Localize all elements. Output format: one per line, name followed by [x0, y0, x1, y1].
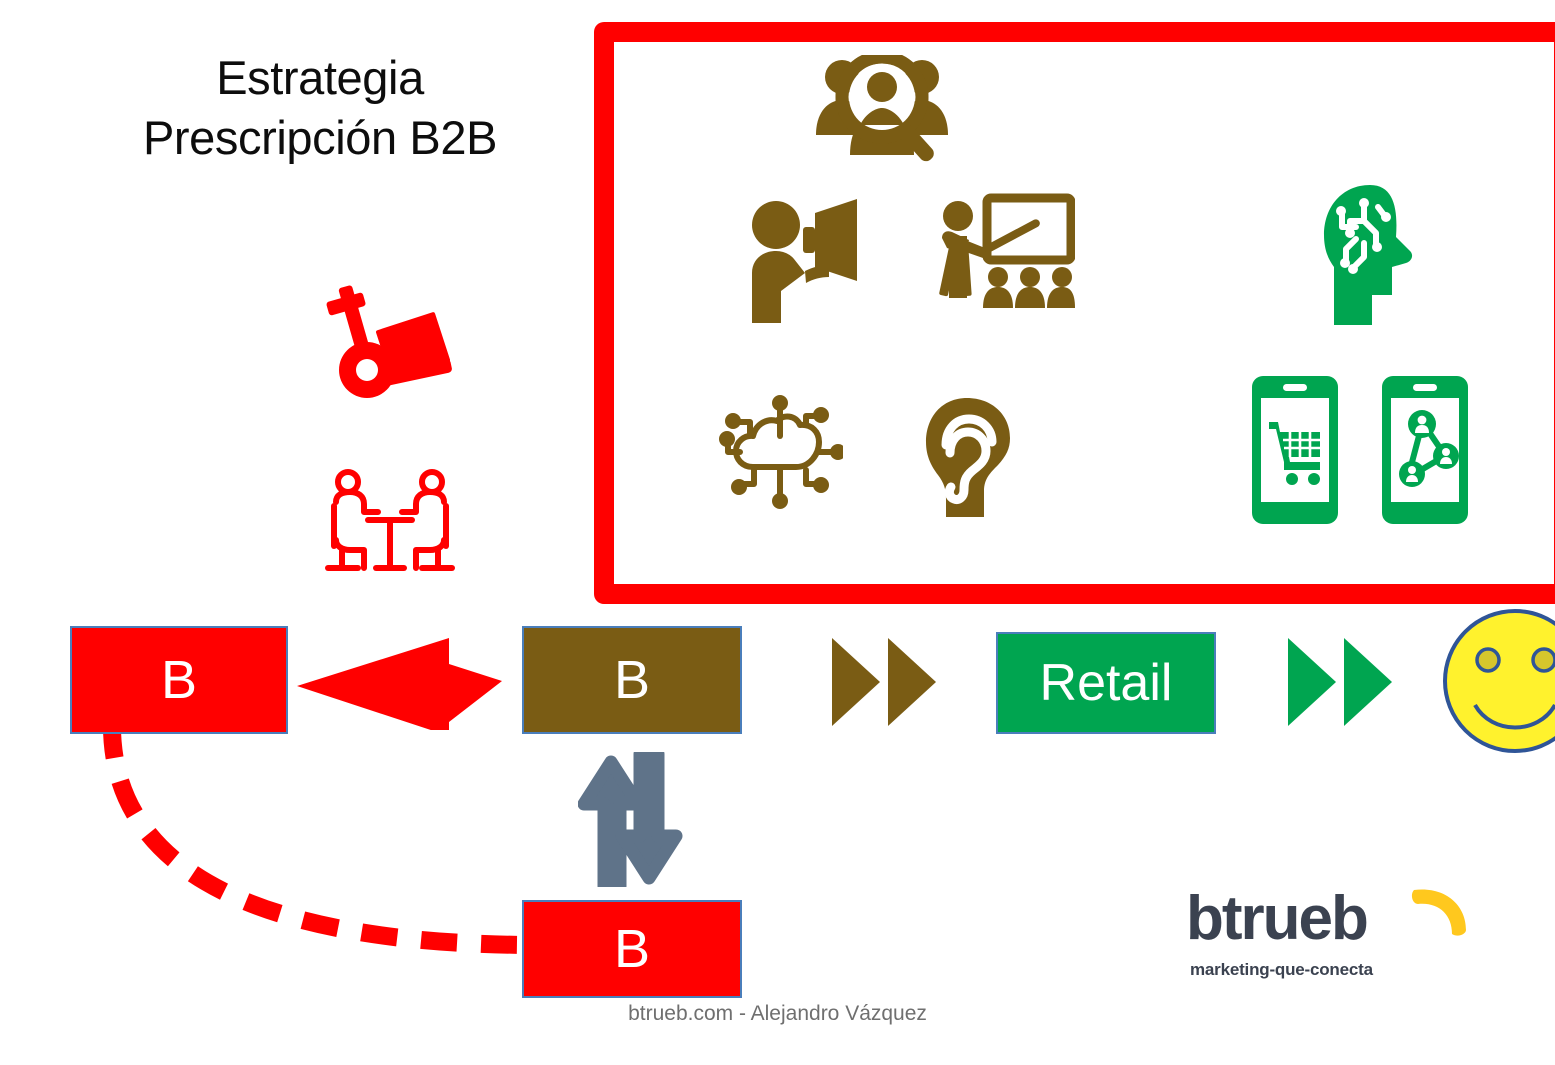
flow-node-retail[interactable]: Retail [996, 632, 1216, 734]
chevrons-brown-right [832, 636, 942, 728]
ear-listening-icon [920, 395, 1015, 520]
btrueb-wordmark: btrueb [1186, 888, 1367, 950]
flow-node-b-middle[interactable]: B [522, 626, 742, 734]
hand-truck-icon [325, 280, 460, 402]
footer-credit: btrueb.com - Alejandro Vázquez [0, 1002, 1555, 1026]
flow-node-b-origin-label: B [161, 653, 197, 707]
flow-node-b-bottom[interactable]: B [522, 900, 742, 998]
meeting-table-icon [320, 468, 460, 573]
page-title: Estrategia Prescripción B2B [70, 48, 570, 168]
arrows-bidirectional [578, 752, 683, 887]
dashed-curve-connector [70, 700, 570, 990]
chevrons-green-right [1288, 636, 1398, 728]
flow-node-b-origin[interactable]: B [70, 626, 288, 734]
ai-brain-head-icon [1320, 183, 1432, 328]
arrow-red-right [297, 630, 502, 730]
flow-node-b-bottom-label: B [614, 922, 650, 976]
mobile-social-network-icon [1380, 374, 1470, 526]
mobile-ecommerce-icon [1250, 374, 1340, 526]
flow-node-b-middle-label: B [614, 653, 650, 707]
btrueb-logo[interactable]: btrueb marketing-que-conecta [1186, 888, 1466, 988]
cloud-network-icon [718, 392, 843, 517]
flow-node-retail-label: Retail [1040, 657, 1173, 709]
presentation-training-icon [925, 192, 1075, 327]
btrueb-swoosh-icon [1408, 884, 1478, 946]
slide-canvas: Estrategia Prescripción B2B [0, 0, 1555, 1065]
megaphone-icon [743, 195, 873, 325]
btrueb-tagline: marketing-que-conecta [1190, 960, 1373, 980]
audience-research-icon [812, 55, 952, 165]
smiley-face-icon [1437, 607, 1555, 767]
